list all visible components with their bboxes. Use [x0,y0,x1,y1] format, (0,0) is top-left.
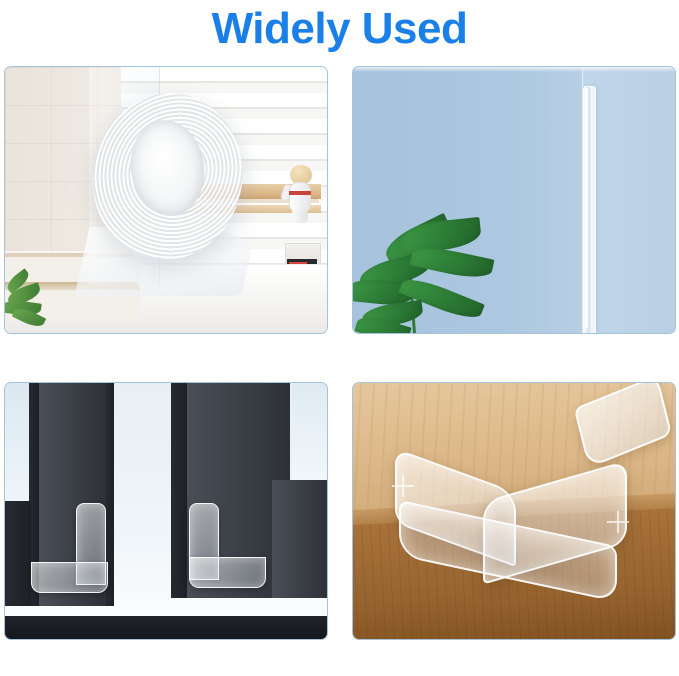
photo-wall-corner [352,66,676,334]
page-title: Widely Used [0,2,679,56]
astronaut-figurine [283,165,317,231]
astronaut-legs [292,209,308,223]
green-plant [356,205,507,334]
sparkle-icon [392,475,414,497]
photo-window-corner [4,382,328,640]
corner-protector-left-horizontal [31,562,108,593]
window-frame-right-outer [171,383,187,598]
ceiling-highlight [353,67,675,72]
potted-plant [5,269,67,333]
window-glass-right [292,383,327,485]
window-sill [5,616,327,639]
panel-window-corner[interactable]: Window corner [4,382,328,640]
sparkle-icon [607,511,629,533]
product-feature-collage: Widely Used [0,0,679,676]
astronaut-body [289,182,311,212]
tape-roll [92,94,243,259]
window-glass-left [5,383,31,501]
corner-guard-highlight [585,88,588,327]
window-ledge-left [5,501,31,606]
corner-protector-right-horizontal [189,557,266,588]
panel-bar-table[interactable]: Bar Table [4,66,328,334]
photo-bar-table [4,66,328,334]
photo-table-corner [352,382,676,640]
window-frame-right-extension [272,480,327,598]
astronaut-belt [289,191,311,195]
clear-corner-guard [395,470,627,603]
panel-wall-corner[interactable]: Wall corner [352,66,676,334]
panel-table-corner[interactable]: Table corner [352,382,676,640]
